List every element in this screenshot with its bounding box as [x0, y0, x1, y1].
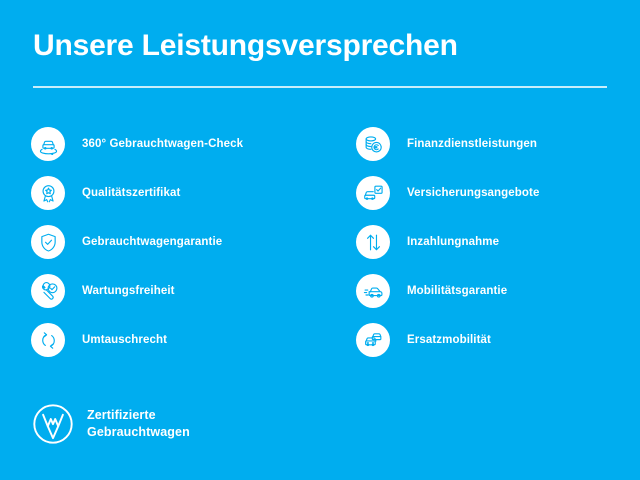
feature-item-gebrauchtwagen-check[interactable]: 360° Gebrauchtwagen-Check	[31, 127, 243, 161]
feature-label: Wartungsfreiheit	[82, 285, 175, 297]
feature-item-umtauschrecht[interactable]: Umtauschrecht	[31, 323, 243, 357]
brand-text-line2: Gebrauchtwagen	[87, 425, 190, 439]
promo-panel: Unsere Leistungsversprechen 360° Gebrauc…	[0, 0, 640, 480]
feature-item-gebrauchtwagengarantie[interactable]: Gebrauchtwagengarantie	[31, 225, 243, 259]
features-left-column: 360° Gebrauchtwagen-Check Qualitätszerti…	[31, 127, 243, 372]
feature-item-finanzdienstleistungen[interactable]: Finanzdienstleistungen	[356, 127, 539, 161]
feature-label: Umtauschrecht	[82, 334, 167, 346]
feature-item-mobilitaetsgarantie[interactable]: Mobilitätsgarantie	[356, 274, 539, 308]
feature-label: Gebrauchtwagengarantie	[82, 236, 222, 248]
feature-label: Qualitätszertifikat	[82, 187, 180, 199]
two-cars-icon	[356, 323, 390, 357]
car-motion-icon	[356, 274, 390, 308]
feature-item-versicherungsangebote[interactable]: Versicherungsangebote	[356, 176, 539, 210]
features-right-column: Finanzdienstleistungen Versicherungsange…	[356, 127, 539, 372]
feature-item-inzahlungnahme[interactable]: Inzahlungnahme	[356, 225, 539, 259]
feature-label: Inzahlungnahme	[407, 236, 499, 248]
title-divider	[33, 86, 607, 88]
exchange-arrows-icon	[31, 323, 65, 357]
feature-label: 360° Gebrauchtwagen-Check	[82, 138, 243, 150]
wrench-check-icon	[31, 274, 65, 308]
award-rosette-icon	[31, 176, 65, 210]
arrows-up-down-icon	[356, 225, 390, 259]
feature-item-qualitaetszertifikat[interactable]: Qualitätszertifikat	[31, 176, 243, 210]
brand-text: Zertifizierte Gebrauchtwagen	[87, 407, 190, 441]
feature-item-ersatzmobilitaet[interactable]: Ersatzmobilität	[356, 323, 539, 357]
feature-label: Ersatzmobilität	[407, 334, 491, 346]
car-insurance-check-icon	[356, 176, 390, 210]
feature-label: Versicherungsangebote	[407, 187, 539, 199]
car-360-check-icon	[31, 127, 65, 161]
brand-text-line1: Zertifizierte	[87, 408, 156, 422]
coins-euro-icon	[356, 127, 390, 161]
feature-label: Finanzdienstleistungen	[407, 138, 537, 150]
page-title: Unsere Leistungsversprechen	[33, 31, 458, 61]
brand-lockup: Zertifizierte Gebrauchtwagen	[31, 402, 190, 446]
feature-item-wartungsfreiheit[interactable]: Wartungsfreiheit	[31, 274, 243, 308]
volkswagen-logo	[31, 402, 75, 446]
feature-label: Mobilitätsgarantie	[407, 285, 507, 297]
shield-check-icon	[31, 225, 65, 259]
